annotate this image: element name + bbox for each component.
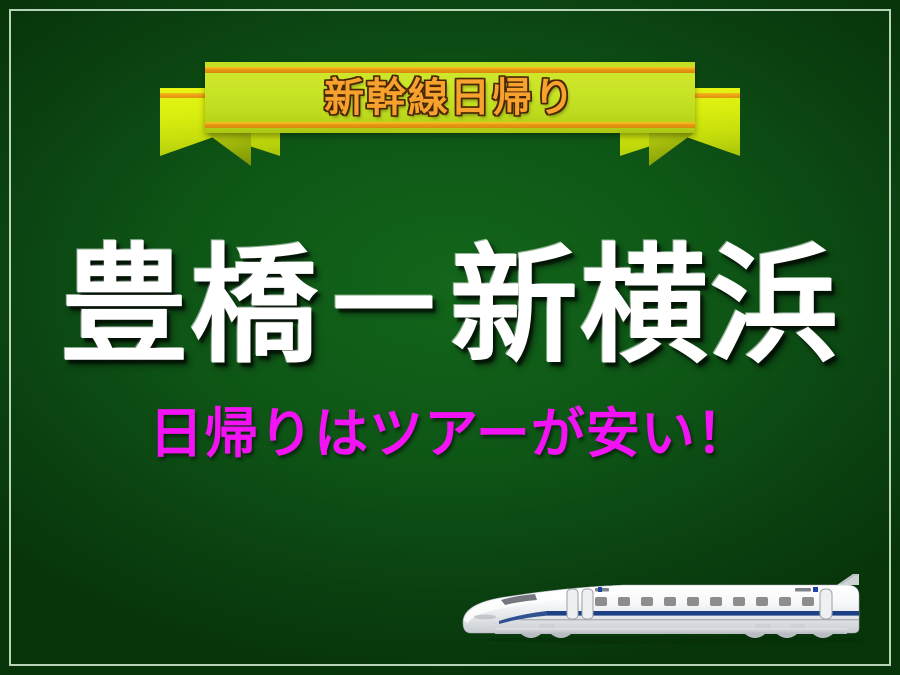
poster-canvas: 新幹線日帰り 豊橋－新横浜 日帰りはツアーが安い！ (0, 0, 900, 675)
shinkansen-train-icon (455, 562, 875, 652)
ribbon-label: 新幹線日帰り (0, 58, 900, 129)
ribbon-banner: 新幹線日帰り (0, 52, 900, 162)
headline-text: 豊橋－新横浜 (60, 243, 840, 371)
ribbon-fold-right (649, 132, 695, 166)
subtitle-text: 日帰りはツアーが安い！ (0, 392, 900, 464)
headline-route: 豊橋－新横浜 (0, 222, 900, 392)
